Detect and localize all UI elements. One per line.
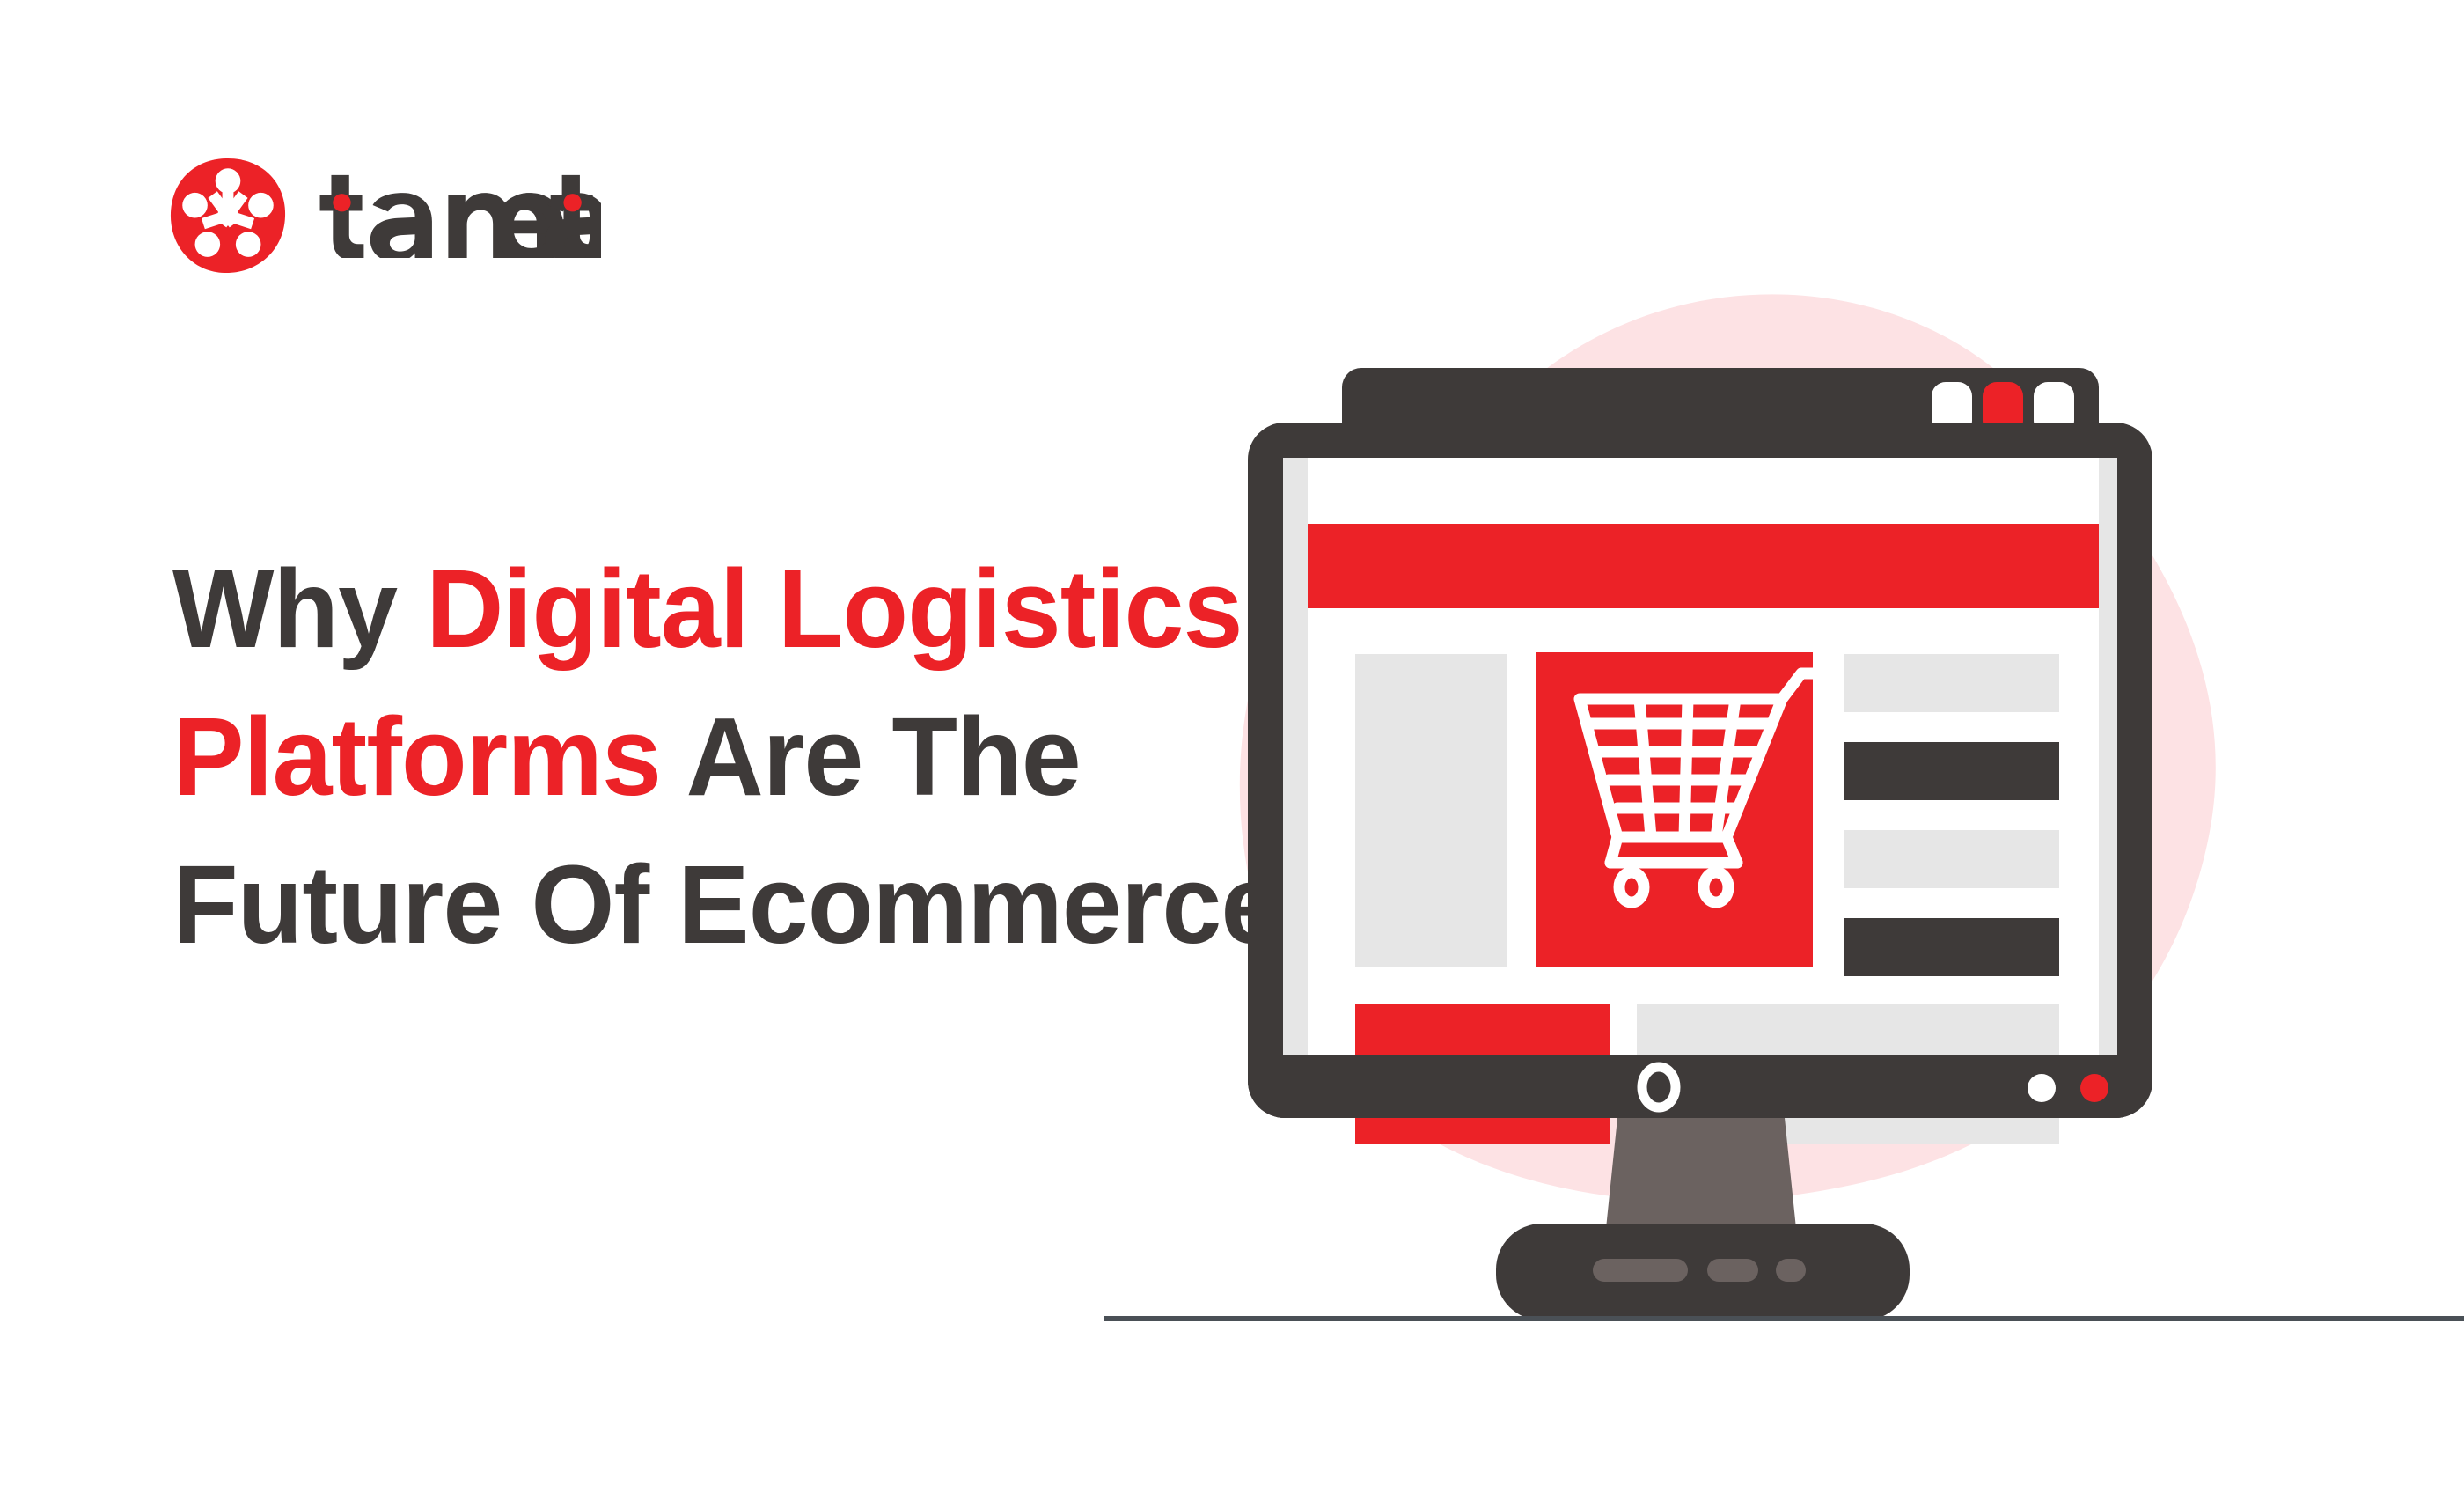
screen-left-sidebar-block: [1355, 654, 1507, 967]
monitor-bottom-bezel: [1248, 1055, 2152, 1118]
stand-pill-1: [1593, 1259, 1688, 1282]
indicator-dot-white: [2028, 1074, 2056, 1102]
screen-nav-band: [1308, 524, 2099, 608]
indicator-dot-red: [2080, 1074, 2108, 1102]
tameta-wordmark: [315, 173, 601, 258]
headline-line-2-dark: Are The: [661, 695, 1081, 819]
screen-text-bar-2: [1844, 742, 2059, 800]
headline-line-2-red: Platforms: [172, 695, 661, 819]
tameta-node-asterisk-logo-icon: [167, 155, 289, 276]
screen-hero-card[interactable]: [1536, 652, 1824, 967]
stand-pill-3: [1776, 1259, 1806, 1282]
ecommerce-monitor-illustration: E-Commerce: [1100, 290, 2464, 1224]
headline-line-1-dark: Why: [172, 547, 426, 671]
screen-text-bar-4: [1844, 918, 2059, 976]
brand-logo-lockup[interactable]: [167, 155, 601, 276]
screen-text-bar-1: [1844, 654, 2059, 712]
monitor-stand-neck: [1605, 1118, 1797, 1237]
monitor-stand-base: [1496, 1224, 1910, 1320]
ground-line: [1104, 1316, 2464, 1321]
stand-pill-2: [1707, 1259, 1758, 1282]
wordmark-dot-2: [563, 194, 581, 211]
screen-text-bar-3: [1844, 830, 2059, 888]
wordmark-dot-1: [333, 194, 350, 211]
